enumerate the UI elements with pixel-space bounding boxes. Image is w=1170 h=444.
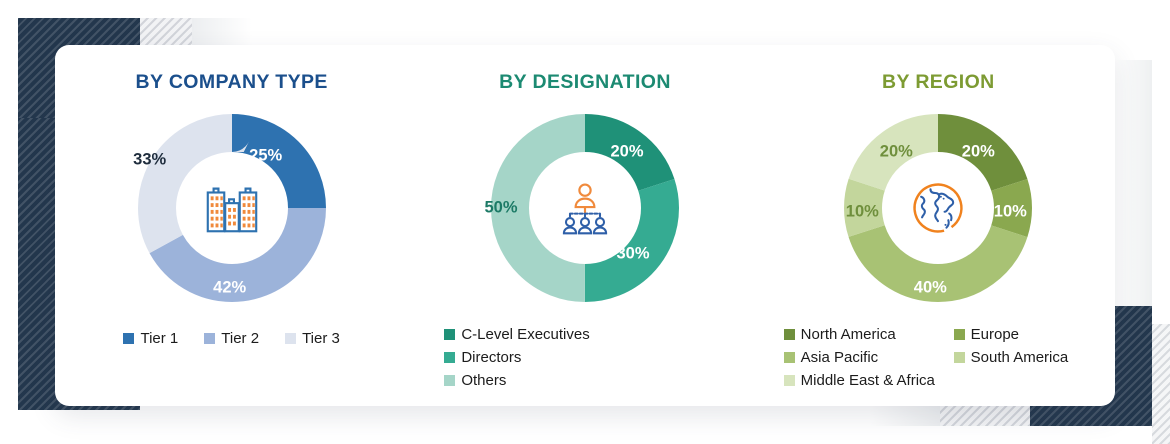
legend-swatch-others bbox=[444, 375, 455, 386]
legend-swatch-c-level-executives bbox=[444, 329, 455, 340]
legend-item-north-america[interactable]: North America bbox=[784, 326, 954, 343]
legend-label-others: Others bbox=[461, 372, 506, 389]
legend-item-c-level-executives[interactable]: C-Level Executives bbox=[444, 326, 589, 343]
legend-swatch-directors bbox=[444, 352, 455, 363]
page-title-company-type: BY COMPANY TYPE bbox=[55, 71, 408, 94]
legend-designation: C-Level Executives Directors Others bbox=[408, 326, 761, 389]
globe-icon bbox=[899, 169, 977, 247]
slice-label-others: 50% bbox=[484, 199, 517, 218]
buildings-icon bbox=[193, 169, 271, 247]
slice-label-tier-1: 25% bbox=[249, 147, 282, 166]
legend-label-asia-pacific: Asia Pacific bbox=[801, 349, 879, 366]
slice-label-europe: 10% bbox=[994, 203, 1027, 222]
panel-designation: BY DESIGNATION 20% 30% 50% bbox=[408, 45, 761, 406]
slice-label-middle-east-africa: 20% bbox=[880, 143, 913, 162]
slice-label-north-america: 20% bbox=[962, 143, 995, 162]
slice-label-south-america: 10% bbox=[846, 203, 879, 222]
legend-item-middle-east-africa[interactable]: Middle East & Africa bbox=[784, 372, 954, 389]
legend-item-tier-3[interactable]: Tier 3 bbox=[285, 330, 340, 347]
panel-region: BY REGION 20% bbox=[762, 45, 1115, 406]
page-title-region: BY REGION bbox=[762, 71, 1115, 94]
legend-swatch-europe bbox=[954, 329, 965, 340]
slice-label-asia-pacific: 40% bbox=[914, 279, 947, 298]
legend-item-europe[interactable]: Europe bbox=[954, 326, 1114, 343]
legend-label-tier-3: Tier 3 bbox=[302, 330, 340, 347]
legend-item-south-america[interactable]: South America bbox=[954, 349, 1114, 366]
legend-swatch-south-america bbox=[954, 352, 965, 363]
donut-chart-region: 20% 10% 40% 10% 20% bbox=[838, 108, 1038, 308]
legend-region: North America Europe Asia Pacific South … bbox=[762, 326, 1115, 389]
page-title-designation: BY DESIGNATION bbox=[408, 71, 761, 94]
legend-swatch-middle-east-africa bbox=[784, 375, 795, 386]
legend-label-directors: Directors bbox=[461, 349, 521, 366]
slice-label-tier-3: 33% bbox=[133, 151, 166, 170]
legend-item-tier-1[interactable]: Tier 1 bbox=[123, 330, 178, 347]
legend-label-europe: Europe bbox=[971, 326, 1019, 343]
slice-label-directors: 30% bbox=[616, 245, 649, 264]
legend-label-north-america: North America bbox=[801, 326, 896, 343]
donut-chart-designation: 20% 30% 50% bbox=[485, 108, 685, 308]
legend-swatch-tier-3 bbox=[285, 333, 296, 344]
infographic-canvas: BY COMPANY TYPE 25% 42% 33% bbox=[0, 0, 1170, 444]
panel-company-type: BY COMPANY TYPE 25% 42% 33% bbox=[55, 45, 408, 406]
org-chart-people-icon bbox=[546, 169, 624, 247]
legend-item-tier-2[interactable]: Tier 2 bbox=[204, 330, 259, 347]
legend-label-south-america: South America bbox=[971, 349, 1069, 366]
slice-label-c-level-executives: 20% bbox=[610, 143, 643, 162]
legend-item-asia-pacific[interactable]: Asia Pacific bbox=[784, 349, 954, 366]
slice-label-tier-2: 42% bbox=[213, 279, 246, 298]
legend-label-middle-east-africa: Middle East & Africa bbox=[801, 372, 935, 389]
legend-item-others[interactable]: Others bbox=[444, 372, 506, 389]
charts-card: BY COMPANY TYPE 25% 42% 33% bbox=[55, 45, 1115, 406]
legend-label-tier-2: Tier 2 bbox=[221, 330, 259, 347]
legend-swatch-north-america bbox=[784, 329, 795, 340]
legend-item-directors[interactable]: Directors bbox=[444, 349, 521, 366]
legend-swatch-tier-1 bbox=[123, 333, 134, 344]
legend-swatch-asia-pacific bbox=[784, 352, 795, 363]
legend-label-c-level-executives: C-Level Executives bbox=[461, 326, 589, 343]
donut-chart-company-type: 25% 42% 33% bbox=[132, 108, 332, 308]
legend-company-type: Tier 1 Tier 2 Tier 3 bbox=[55, 330, 408, 347]
legend-swatch-tier-2 bbox=[204, 333, 215, 344]
legend-label-tier-1: Tier 1 bbox=[140, 330, 178, 347]
